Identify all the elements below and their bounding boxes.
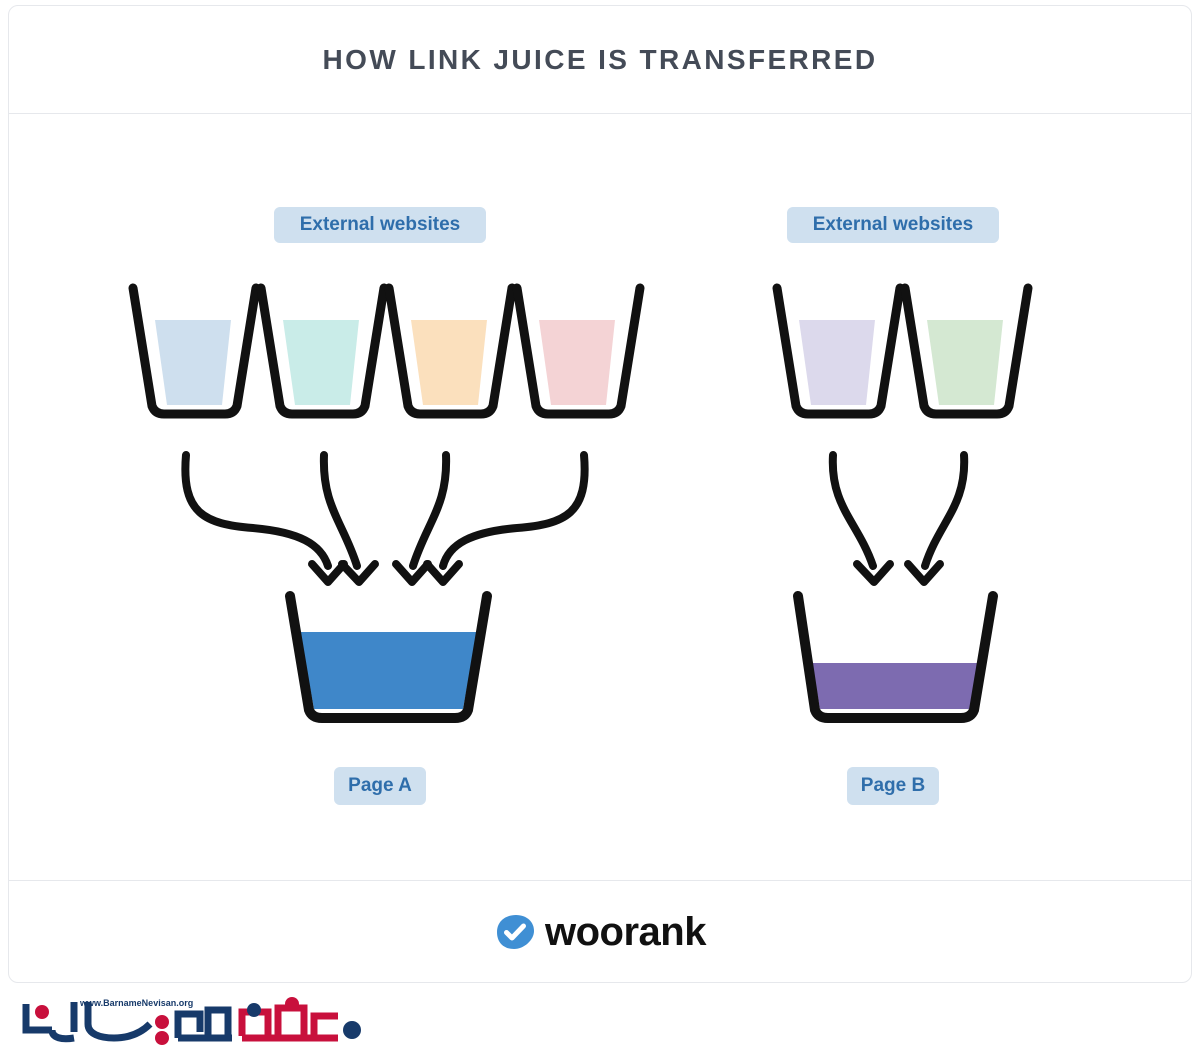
arrow-3-curve bbox=[413, 455, 446, 566]
group-page-b-arrows bbox=[833, 455, 964, 582]
watermark-dot-2 bbox=[155, 1015, 169, 1029]
bucket-page-a bbox=[290, 596, 487, 718]
bucket-page-a-liquid bbox=[300, 632, 477, 709]
cup-5-liquid bbox=[799, 320, 875, 405]
badge-page-a: Page A bbox=[334, 767, 426, 805]
link-juice-diagram bbox=[9, 114, 1192, 880]
page-title: HOW LINK JUICE IS TRANSFERRED bbox=[323, 44, 878, 76]
arrow-6-curve bbox=[925, 455, 964, 566]
group-page-b-cups bbox=[777, 288, 1028, 414]
woorank-wordmark: woorank bbox=[545, 912, 706, 952]
cup-2 bbox=[261, 288, 384, 414]
watermark-navy-block bbox=[178, 1010, 232, 1038]
cup-4-liquid bbox=[539, 320, 615, 405]
badge-external-websites-right: External websites bbox=[787, 207, 999, 243]
badge-external-websites-left: External websites bbox=[274, 207, 486, 243]
cup-3-liquid bbox=[411, 320, 487, 405]
arrow-2-curve bbox=[324, 455, 357, 566]
barnamenevisan-watermark: www.BarnameNevisan.org bbox=[22, 990, 372, 1048]
watermark-dot-6 bbox=[343, 1021, 361, 1039]
watermark-dot-5 bbox=[285, 997, 299, 1011]
infographic-page: HOW LINK JUICE IS TRANSFERRED bbox=[0, 0, 1200, 1050]
cup-6 bbox=[905, 288, 1028, 414]
cup-6-liquid bbox=[927, 320, 1003, 405]
arrow-4-curve bbox=[443, 455, 585, 566]
cup-1-liquid bbox=[155, 320, 231, 405]
group-page-a-cups bbox=[133, 288, 640, 414]
cup-1 bbox=[133, 288, 256, 414]
group-page-a-arrows bbox=[185, 455, 584, 582]
watermark-dot-4 bbox=[247, 1003, 261, 1017]
arrow-5-curve bbox=[833, 455, 873, 566]
woorank-logo: woorank bbox=[494, 912, 706, 952]
barnamenevisan-logo-icon: www.BarnameNevisan.org bbox=[22, 990, 372, 1048]
card-body: External websites External websites Page… bbox=[9, 114, 1191, 880]
watermark-dot-1 bbox=[35, 1005, 49, 1019]
cup-2-liquid bbox=[283, 320, 359, 405]
badge-page-b: Page B bbox=[847, 767, 939, 805]
arrow-1-curve bbox=[185, 455, 328, 566]
card-footer: woorank bbox=[9, 880, 1191, 983]
infographic-card: HOW LINK JUICE IS TRANSFERRED bbox=[8, 5, 1192, 983]
watermark-url-text: www.BarnameNevisan.org bbox=[79, 998, 193, 1008]
bucket-page-b bbox=[798, 596, 993, 718]
watermark-dot-3 bbox=[155, 1031, 169, 1045]
card-header: HOW LINK JUICE IS TRANSFERRED bbox=[9, 6, 1191, 114]
check-badge-icon bbox=[494, 913, 536, 951]
cup-3 bbox=[389, 288, 512, 414]
cup-5 bbox=[777, 288, 900, 414]
cup-4 bbox=[517, 288, 640, 414]
bucket-page-b-liquid bbox=[812, 663, 978, 709]
